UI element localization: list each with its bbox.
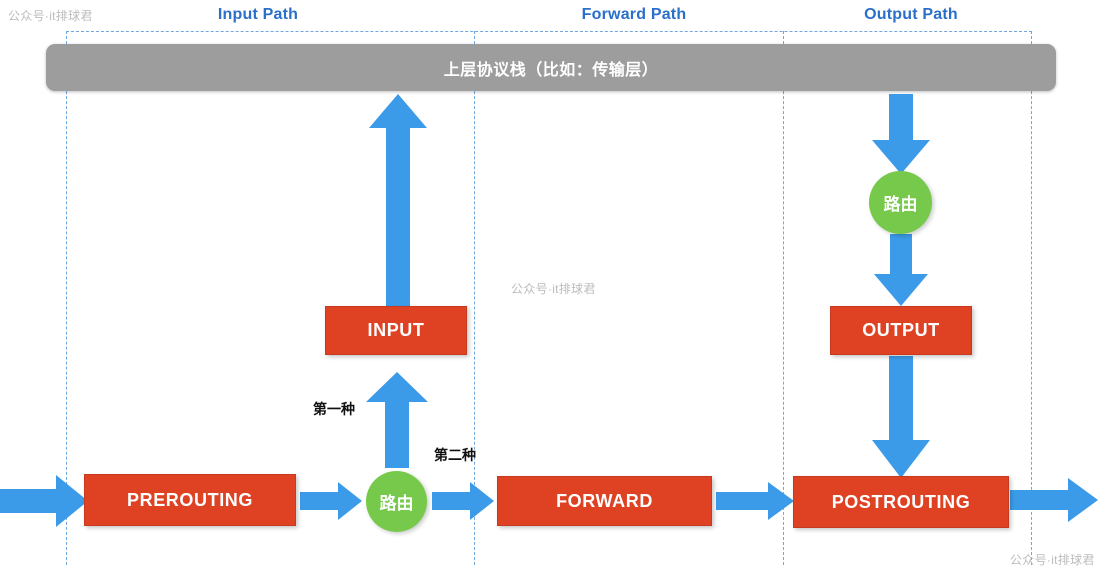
chain-box-input[interactable]: INPUT (325, 306, 467, 355)
arrow-input-to-protocol-stack (369, 94, 427, 306)
chain-box-prerouting[interactable]: PREROUTING (84, 474, 296, 526)
chain-box-forward[interactable]: FORWARD (497, 476, 712, 526)
routing-decision-input-label: 路由 (380, 489, 414, 514)
chain-label-prerouting: PREROUTING (127, 490, 253, 511)
path-label-forward: Forward Path (534, 6, 734, 24)
arrow-protocol-stack-to-route (872, 94, 930, 174)
chain-label-postrouting: POSTROUTING (832, 492, 971, 513)
arrow-route-to-output (874, 234, 928, 306)
arrow-prerouting-to-route (300, 482, 362, 520)
note-second-kind: 第二种 (434, 445, 476, 465)
chain-label-output: OUTPUT (862, 320, 940, 341)
arrow-route-to-forward (432, 482, 494, 520)
routing-decision-output-label: 路由 (884, 190, 918, 215)
routing-decision-output[interactable]: 路由 (869, 171, 932, 234)
watermark-top-left: 公众号·it排球君 (8, 7, 93, 24)
chain-label-input: INPUT (368, 320, 425, 341)
arrow-forward-to-postrouting (716, 482, 794, 520)
chain-box-postrouting[interactable]: POSTROUTING (793, 476, 1009, 528)
chain-label-forward: FORWARD (556, 491, 653, 512)
diagram-canvas: Input Path Forward Path Output Path 上层协议… (0, 0, 1098, 571)
watermark-center: 公众号·it排球君 (511, 280, 596, 297)
chain-box-output[interactable]: OUTPUT (830, 306, 972, 355)
watermark-bottom-right: 公众号·it排球君 (1010, 551, 1095, 568)
routing-decision-input[interactable]: 路由 (366, 471, 427, 532)
arrow-postrouting-to-egress (1010, 478, 1098, 522)
upper-protocol-stack-banner: 上层协议栈（比如：传输层） (46, 44, 1056, 91)
upper-protocol-stack-label: 上层协议栈（比如：传输层） (444, 56, 659, 80)
arrow-route-to-input (366, 372, 428, 468)
arrow-ingress-to-prerouting (0, 475, 88, 527)
path-label-input: Input Path (158, 6, 358, 24)
path-label-output: Output Path (811, 6, 1011, 24)
arrow-output-to-postrouting (872, 356, 930, 478)
note-first-kind: 第一种 (313, 399, 355, 419)
